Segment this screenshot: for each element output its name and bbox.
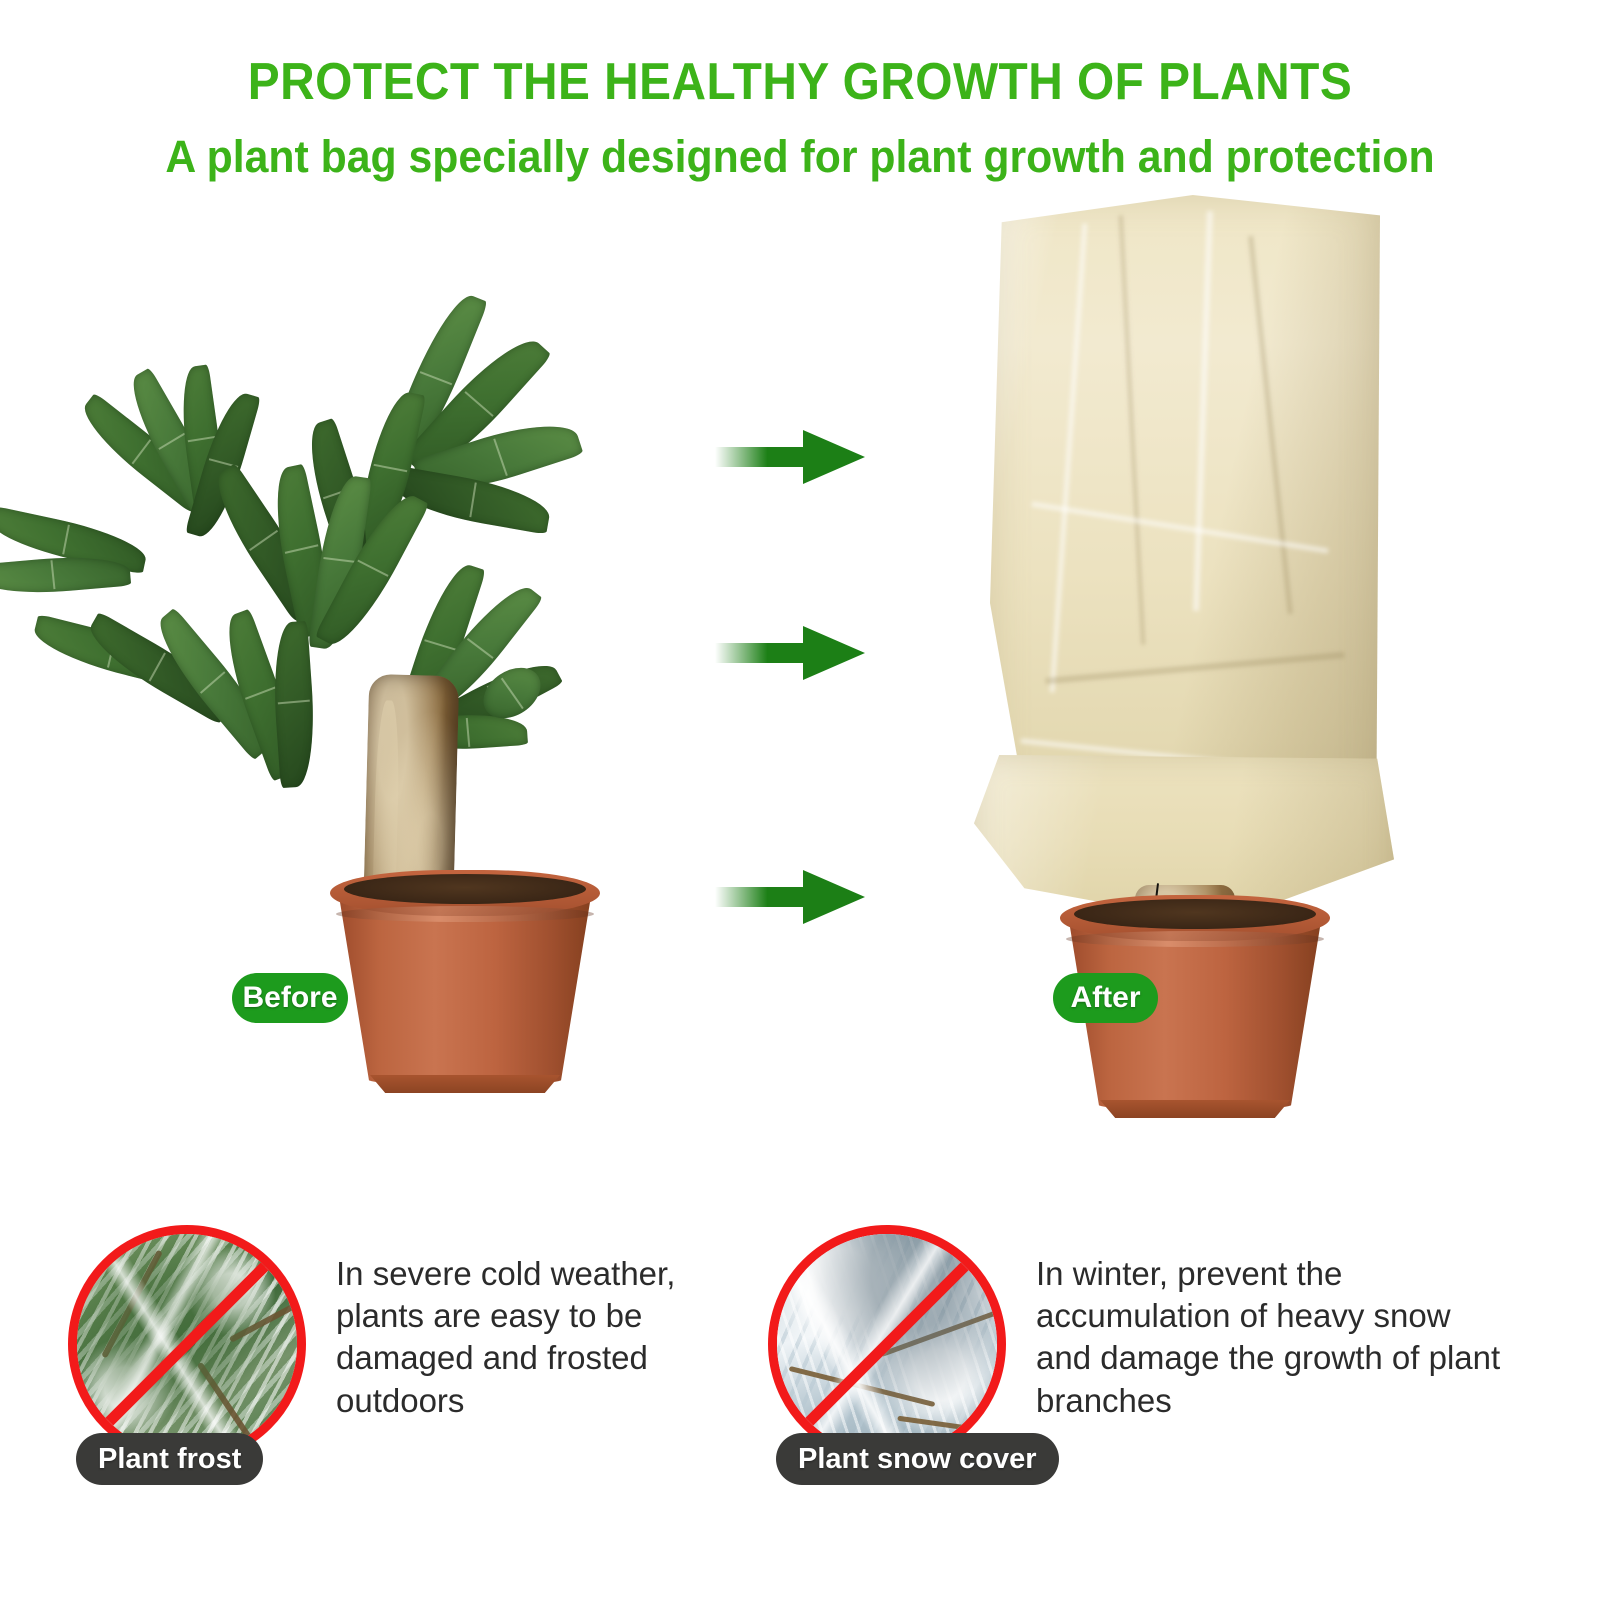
transition-arrow-3 — [715, 868, 865, 926]
feature-plant-frost: Plant frost In severe cold weather, plan… — [68, 1225, 768, 1525]
after-image — [960, 195, 1580, 1125]
no-frost-icon — [68, 1225, 306, 1463]
pot-foot — [1100, 1100, 1290, 1118]
transition-arrow-1 — [715, 428, 865, 486]
pot-lip-highlight — [1066, 931, 1324, 947]
page-subtitle: A plant bag specially designed for plant… — [40, 131, 1560, 183]
feature-description: In winter, prevent the accumulation of h… — [1036, 1253, 1506, 1422]
infographic-page: PROTECT THE HEALTHY GROWTH OF PLANTS A p… — [0, 0, 1600, 1600]
plant-foliage — [20, 270, 660, 910]
after-badge: After — [1053, 973, 1158, 1023]
page-title: PROTECT THE HEALTHY GROWTH OF PLANTS — [64, 52, 1536, 112]
feature-plant-snow-cover: Plant snow cover In winter, prevent the … — [768, 1225, 1568, 1525]
transition-arrow-2 — [715, 624, 865, 682]
pot-foot — [370, 1075, 560, 1093]
feature-badge: Plant frost — [76, 1433, 263, 1485]
pot-body — [339, 896, 591, 1082]
pot-lip-highlight — [336, 906, 594, 922]
pot-soil — [1074, 899, 1316, 929]
before-badge: Before — [232, 973, 348, 1023]
feature-badge: Plant snow cover — [776, 1433, 1059, 1485]
feature-description: In severe cold weather, plants are easy … — [336, 1253, 736, 1422]
no-snow-icon — [768, 1225, 1006, 1463]
plant-pot — [330, 870, 600, 1100]
pot-soil — [344, 874, 586, 904]
